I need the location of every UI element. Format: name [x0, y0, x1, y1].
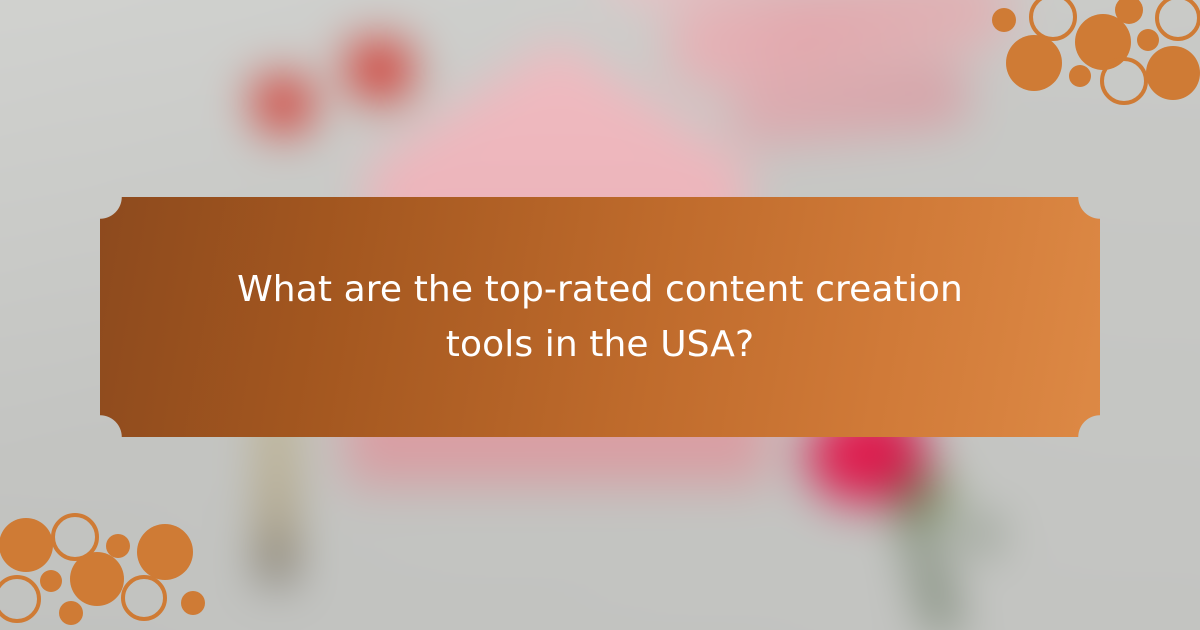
page-title: What are the top-rated content creation …: [150, 262, 1050, 372]
deco-circle: [106, 534, 130, 558]
deco-circle: [59, 601, 83, 625]
circle-cluster-icon: [0, 505, 220, 630]
deco-circle: [1157, 0, 1199, 39]
deco-circle: [1102, 59, 1146, 103]
deco-circle: [992, 8, 1016, 32]
headline-banner: What are the top-rated content creation …: [100, 197, 1100, 437]
deco-circle: [1146, 46, 1200, 100]
deco-circle: [1137, 29, 1159, 51]
deco-circle: [181, 591, 205, 615]
deco-circle: [0, 577, 39, 621]
deco-circle: [1075, 14, 1131, 70]
deco-circle: [40, 570, 62, 592]
deco-circle: [0, 518, 53, 572]
deco-circle: [1069, 65, 1091, 87]
circle-cluster-icon: [980, 0, 1200, 112]
deco-circle: [1031, 0, 1075, 39]
bottom-left-circle-cluster: [0, 505, 220, 630]
deco-circle: [53, 515, 97, 559]
deco-circle: [137, 524, 193, 580]
screenshot-canvas: What are the top-rated content creation …: [0, 0, 1200, 630]
deco-circle: [1006, 35, 1062, 91]
deco-circle: [123, 577, 165, 619]
deco-circle: [70, 552, 124, 606]
top-right-circle-cluster: [980, 0, 1200, 112]
